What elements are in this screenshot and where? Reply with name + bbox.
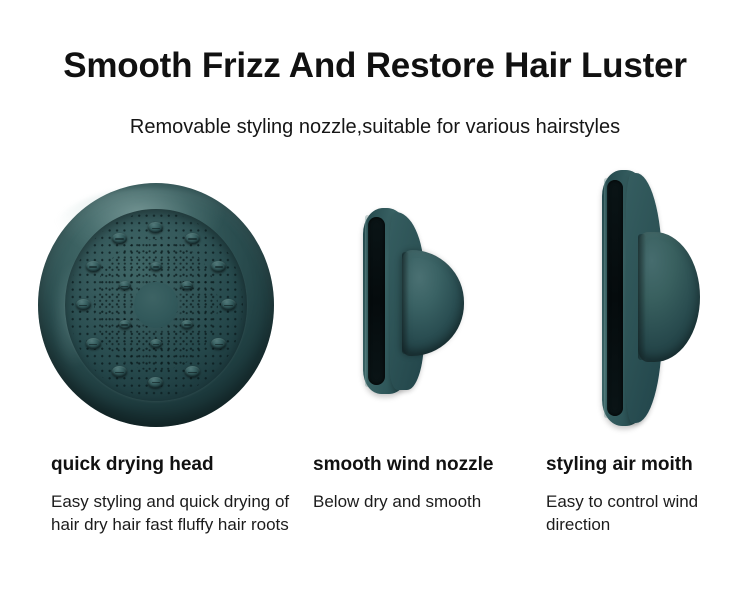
diffuser-prong [119, 281, 131, 290]
feature-styling-air-moith: styling air moith Easy to control wind d… [546, 455, 746, 537]
feature-title: smooth wind nozzle [313, 455, 523, 476]
feature-description: Easy to control wind direction [546, 490, 746, 537]
feature-description: Easy styling and quick drying of hair dr… [51, 490, 301, 537]
nozzle-collar-face [638, 232, 700, 362]
feature-smooth-wind-nozzle: smooth wind nozzle Below dry and smooth [313, 455, 523, 513]
nozzle-air-slot [368, 217, 385, 385]
diffuser-center-hub [134, 282, 178, 328]
diffuser-prong [119, 320, 131, 329]
diffuser-head-image [38, 183, 274, 427]
nozzle-slot-lip [365, 215, 370, 387]
diffuser-prong [112, 233, 127, 244]
diffuser-prong [86, 338, 101, 349]
nozzle-air-slot [607, 180, 623, 416]
nozzle-collar-seam [402, 252, 409, 354]
nozzle-slot-lip [604, 178, 609, 418]
diffuser-prong [148, 377, 163, 388]
feature-title: styling air moith [546, 455, 746, 476]
diffuser-prong [185, 233, 200, 244]
feature-title: quick drying head [51, 455, 301, 476]
nozzle-collar-seam [638, 234, 646, 360]
diffuser-prong [150, 262, 162, 271]
feature-description: Below dry and smooth [313, 490, 523, 513]
nozzle-collar [402, 250, 464, 356]
diffuser-prong [150, 339, 162, 348]
diffuser-inner-bowl [65, 209, 247, 402]
diffuser-prong [86, 261, 101, 272]
styling-air-nozzle-image [598, 170, 734, 426]
smooth-wind-nozzle-image [360, 208, 470, 394]
product-infographic: Smooth Frizz And Restore Hair Luster Rem… [0, 0, 750, 613]
feature-quick-drying-head: quick drying head Easy styling and quick… [51, 455, 301, 537]
